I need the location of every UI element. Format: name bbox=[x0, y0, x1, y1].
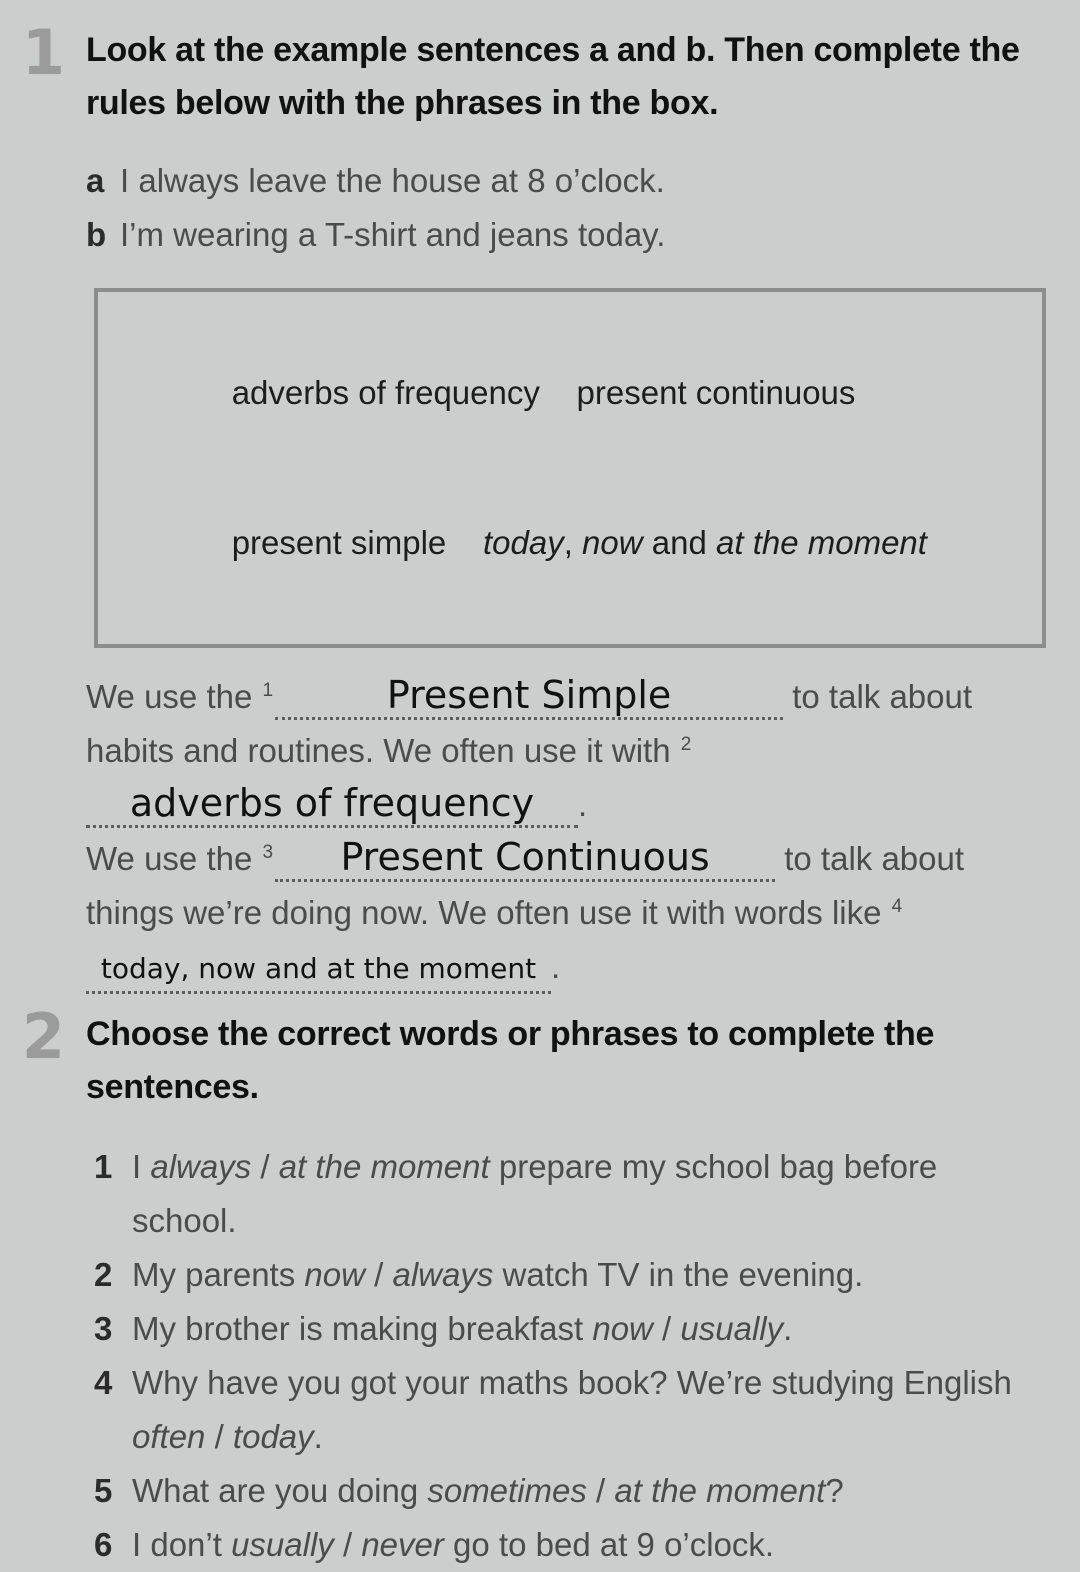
rule-3-prefix: We use the bbox=[86, 840, 252, 877]
option-word[interactable]: always bbox=[150, 1148, 251, 1185]
option-word[interactable]: usually bbox=[231, 1526, 334, 1563]
option-word[interactable]: sometimes bbox=[427, 1472, 587, 1509]
gap-number-2: 2 bbox=[681, 734, 692, 755]
rule-2: We use the 3Present Continuous to talk a… bbox=[86, 832, 1046, 994]
sentence-fragment: ? bbox=[825, 1472, 843, 1509]
gap-number-1: 1 bbox=[263, 680, 274, 701]
sentence-fragment: watch TV in the evening. bbox=[493, 1256, 863, 1293]
option-word[interactable]: never bbox=[361, 1526, 444, 1563]
gap-answer-3[interactable]: Present Continuous bbox=[275, 835, 775, 882]
sentence-text[interactable]: I don’t usually / never go to bed at 9 o… bbox=[132, 1518, 1046, 1572]
exercise-2-instruction: Choose the correct words or phrases to c… bbox=[86, 1008, 1046, 1114]
phrase-box-line-1: adverbs of frequency present continuous bbox=[140, 318, 1002, 468]
sentence-fragment: I don’t bbox=[132, 1526, 231, 1563]
example-label-b: b bbox=[86, 208, 120, 262]
list-item: 3 My brother is making breakfast now / u… bbox=[86, 1302, 1046, 1356]
list-item: 5 What are you doing sometimes / at the … bbox=[86, 1464, 1046, 1518]
phrase-sep-comma: , bbox=[564, 524, 582, 561]
sentence-number: 2 bbox=[86, 1248, 132, 1302]
phrase-sep-and: and bbox=[643, 524, 716, 561]
sentence-fragment: go to bed at 9 o’clock. bbox=[444, 1526, 774, 1563]
exercise-1-instruction: Look at the example sentences a and b. T… bbox=[86, 24, 1046, 130]
sentence-fragment: What are you doing bbox=[132, 1472, 427, 1509]
option-word[interactable]: at the moment bbox=[614, 1472, 825, 1509]
exercise-1-body: Look at the example sentences a and b. T… bbox=[86, 24, 1080, 994]
exercise-1: 1 Look at the example sentences a and b.… bbox=[0, 0, 1080, 994]
sentence-text[interactable]: My brother is making breakfast now / usu… bbox=[132, 1302, 1046, 1356]
sentence-fragment: . bbox=[314, 1418, 323, 1455]
option-word[interactable]: today bbox=[233, 1418, 314, 1455]
phrase-now[interactable]: now bbox=[582, 524, 643, 561]
phrase-at-the-moment[interactable]: at the moment bbox=[716, 524, 927, 561]
sentence-fragment: / bbox=[205, 1418, 233, 1455]
rule-4-period: . bbox=[551, 948, 560, 985]
gap-answer-1[interactable]: Present Simple bbox=[275, 673, 783, 720]
sentence-number: 4 bbox=[86, 1356, 132, 1410]
option-word[interactable]: usually bbox=[680, 1310, 783, 1347]
sentence-number: 3 bbox=[86, 1302, 132, 1356]
exercise-2-body: Choose the correct words or phrases to c… bbox=[86, 1008, 1080, 1572]
list-item: 6 I don’t usually / never go to bed at 9… bbox=[86, 1518, 1046, 1572]
sentence-list: 1 I always / at the moment prepare my sc… bbox=[86, 1140, 1046, 1572]
exercise-2: 2 Choose the correct words or phrases to… bbox=[0, 994, 1080, 1572]
sentence-fragment: My parents bbox=[132, 1256, 304, 1293]
sentence-fragment: Why have you got your maths book? We’re … bbox=[132, 1364, 1012, 1401]
option-word[interactable]: now bbox=[304, 1256, 365, 1293]
option-word[interactable]: often bbox=[132, 1418, 205, 1455]
option-word[interactable]: always bbox=[392, 1256, 493, 1293]
sentence-text[interactable]: What are you doing sometimes / at the mo… bbox=[132, 1464, 1046, 1518]
example-row: a I always leave the house at 8 o’clock. bbox=[86, 154, 1046, 208]
exercise-2-number: 2 bbox=[0, 1008, 86, 1066]
example-text-a: I always leave the house at 8 o’clock. bbox=[120, 154, 1046, 208]
gap-answer-2[interactable]: adverbs of frequency bbox=[86, 781, 578, 828]
sentence-fragment: / bbox=[251, 1148, 279, 1185]
option-word[interactable]: now bbox=[592, 1310, 653, 1347]
sentence-fragment: I bbox=[132, 1148, 150, 1185]
sentence-text[interactable]: I always / at the moment prepare my scho… bbox=[132, 1140, 1046, 1248]
example-text-b: I’m wearing a T-shirt and jeans today. bbox=[120, 208, 1046, 262]
gap-number-4: 4 bbox=[892, 896, 903, 917]
sentence-fragment: / bbox=[653, 1310, 681, 1347]
rule-1-prefix: We use the bbox=[86, 678, 252, 715]
rules-text: We use the 1Present Simple to talk about… bbox=[86, 670, 1046, 994]
sentence-text[interactable]: Why have you got your maths book? We’re … bbox=[132, 1356, 1046, 1464]
phrase-present-simple[interactable]: present simple bbox=[232, 524, 483, 561]
list-item: 1 I always / at the moment prepare my sc… bbox=[86, 1140, 1046, 1248]
option-word[interactable]: at the moment bbox=[279, 1148, 490, 1185]
list-item: 2 My parents now / always watch TV in th… bbox=[86, 1248, 1046, 1302]
phrase-box: adverbs of frequency present continuous … bbox=[94, 288, 1046, 648]
sentence-fragment: / bbox=[365, 1256, 393, 1293]
rule-2-period: . bbox=[578, 786, 587, 823]
sentence-fragment: My brother is making breakfast bbox=[132, 1310, 592, 1347]
phrase-today[interactable]: today bbox=[483, 524, 564, 561]
exercise-1-number: 1 bbox=[0, 24, 86, 82]
list-item: 4 Why have you got your maths book? We’r… bbox=[86, 1356, 1046, 1464]
worksheet-page: 1 Look at the example sentences a and b.… bbox=[0, 0, 1080, 1506]
sentence-number: 6 bbox=[86, 1518, 132, 1572]
sentence-fragment: . bbox=[783, 1310, 792, 1347]
sentence-fragment: / bbox=[587, 1472, 615, 1509]
gap-answer-4[interactable]: today, now and at the moment bbox=[86, 947, 551, 994]
example-label-a: a bbox=[86, 154, 120, 208]
phrase-box-line-1-text[interactable]: adverbs of frequency present continuous bbox=[232, 374, 856, 411]
phrase-box-line-2: present simple today, now and at the mom… bbox=[140, 468, 1002, 618]
example-row: b I’m wearing a T-shirt and jeans today. bbox=[86, 208, 1046, 262]
example-sentences: a I always leave the house at 8 o’clock.… bbox=[86, 154, 1046, 262]
sentence-fragment: / bbox=[334, 1526, 362, 1563]
sentence-number: 5 bbox=[86, 1464, 132, 1518]
gap-number-3: 3 bbox=[263, 842, 274, 863]
rule-1: We use the 1Present Simple to talk about… bbox=[86, 670, 1046, 832]
sentence-number: 1 bbox=[86, 1140, 132, 1194]
sentence-text[interactable]: My parents now / always watch TV in the … bbox=[132, 1248, 1046, 1302]
